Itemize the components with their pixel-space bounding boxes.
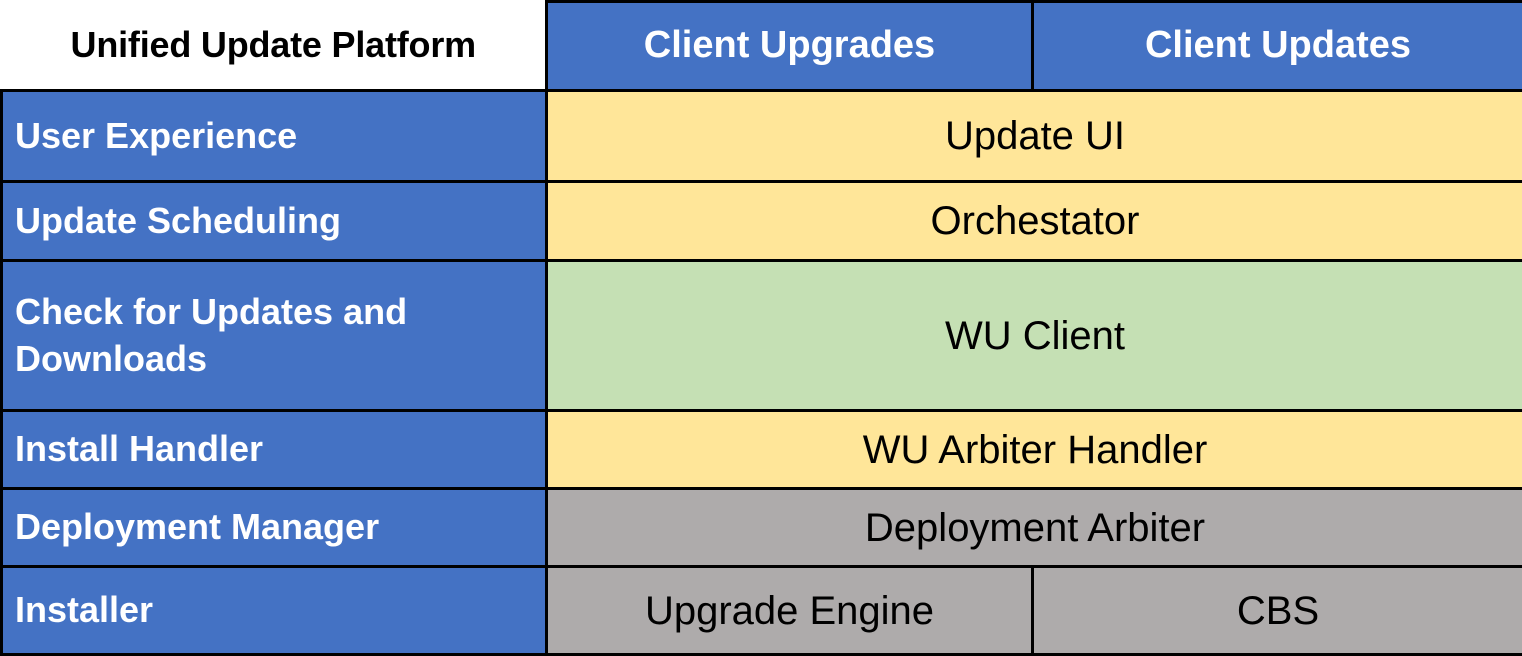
table-row: Deployment Manager Deployment Arbiter: [2, 489, 1522, 567]
cell-upgrade-engine: Upgrade Engine: [547, 567, 1033, 655]
row-label-update-scheduling: Update Scheduling: [2, 182, 547, 261]
column-header-label: Client Updates: [1034, 25, 1522, 67]
cell-label: Upgrade Engine: [548, 588, 1031, 634]
table-header-row: Unified Update Platform Client Upgrades …: [2, 2, 1522, 91]
row-label: Check for Updates and Downloads: [3, 289, 545, 381]
row-label-check-for-updates-and-downloads: Check for Updates and Downloads: [2, 261, 547, 411]
cell-label: Orchestator: [548, 198, 1522, 244]
page-title: Unified Update Platform: [2, 25, 546, 65]
column-header-client-upgrades: Client Upgrades: [547, 2, 1033, 91]
cell-cbs: CBS: [1033, 567, 1522, 655]
table-row: Check for Updates and Downloads WU Clien…: [2, 261, 1522, 411]
cell-deployment-arbiter: Deployment Arbiter: [547, 489, 1522, 567]
platform-title-cell: Unified Update Platform: [2, 2, 547, 91]
row-label-deployment-manager: Deployment Manager: [2, 489, 547, 567]
cell-label: WU Client: [548, 313, 1522, 359]
table-row: User Experience Update UI: [2, 91, 1522, 182]
row-label: Install Handler: [3, 426, 545, 472]
table-row: Install Handler WU Arbiter Handler: [2, 411, 1522, 489]
cell-label: WU Arbiter Handler: [548, 427, 1522, 473]
row-label-install-handler: Install Handler: [2, 411, 547, 489]
table-row: Update Scheduling Orchestator: [2, 182, 1522, 261]
cell-wu-arbiter-handler: WU Arbiter Handler: [547, 411, 1522, 489]
row-label-installer: Installer: [2, 567, 547, 655]
cell-orchestator: Orchestator: [547, 182, 1522, 261]
column-header-label: Client Upgrades: [548, 25, 1031, 67]
cell-label: CBS: [1034, 588, 1522, 634]
row-label: Update Scheduling: [3, 198, 545, 244]
cell-wu-client: WU Client: [547, 261, 1522, 411]
cell-update-ui: Update UI: [547, 91, 1522, 182]
row-label: User Experience: [3, 113, 545, 159]
unified-update-platform-table: Unified Update Platform Client Upgrades …: [0, 0, 1522, 656]
row-label-user-experience: User Experience: [2, 91, 547, 182]
table-row: Installer Upgrade Engine CBS: [2, 567, 1522, 655]
cell-label: Update UI: [548, 113, 1522, 159]
cell-label: Deployment Arbiter: [548, 505, 1522, 551]
row-label: Installer: [3, 587, 545, 633]
row-label: Deployment Manager: [3, 504, 545, 550]
column-header-client-updates: Client Updates: [1033, 2, 1522, 91]
